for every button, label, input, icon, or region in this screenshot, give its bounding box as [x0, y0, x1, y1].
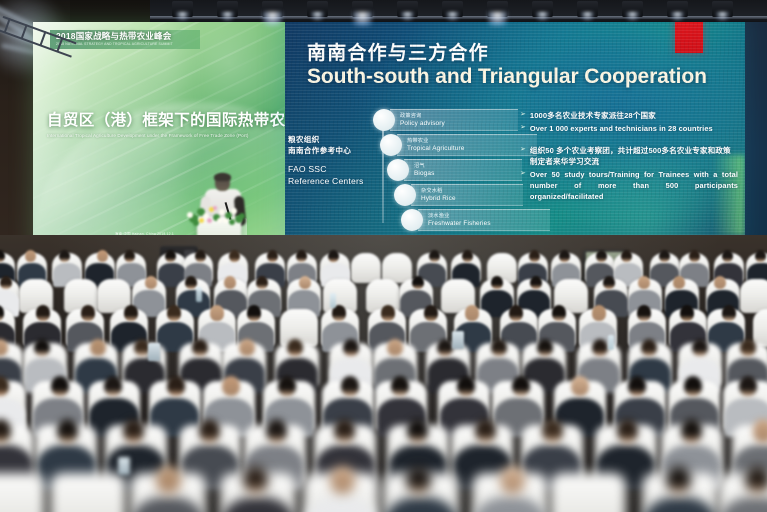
audience-person-head — [124, 250, 135, 262]
audience-person-head — [714, 276, 726, 289]
slide-title-cn: 南南合作与三方合作 — [307, 44, 707, 64]
bullet-text-cn: 组织50 多个农业考察团，共计超过500多名农业专家和政策制定者来华学习交流 — [530, 145, 738, 167]
audience-person-head — [391, 376, 409, 396]
fao-label-cn-2: 南南合作参考中心 — [288, 145, 383, 156]
audience-person-head — [552, 305, 566, 321]
audience-person-head — [256, 276, 268, 289]
audience-chair — [50, 473, 126, 512]
audience-person-head — [491, 339, 507, 357]
bullet-arrow-icon: ➢ — [520, 169, 526, 180]
audience-person-head — [296, 250, 307, 262]
audience-person-head — [287, 339, 303, 357]
audience-person-head — [755, 250, 766, 262]
bullet-arrow-icon: ➢ — [520, 110, 526, 121]
smartphone — [148, 343, 160, 361]
water-bottle — [330, 293, 336, 308]
audience-person-head — [592, 305, 606, 321]
audience-person-head — [673, 276, 685, 289]
reference-center-node: 杂交水稻Hybrid Rice — [394, 183, 523, 207]
audience-person-head — [637, 305, 651, 321]
audience-person-head — [167, 305, 181, 321]
fao-label-en-2: Reference Centers — [288, 175, 383, 187]
audience-person-head — [571, 376, 589, 396]
audience-person-head — [457, 376, 475, 396]
audience-person-head — [81, 305, 95, 321]
audience-person-head — [334, 419, 355, 443]
spotlight — [307, 1, 328, 17]
spotlight — [352, 1, 373, 17]
audience-person-head — [684, 376, 702, 396]
audience-person-head — [722, 250, 733, 262]
audience-person-head — [739, 376, 757, 396]
audience-person-head — [666, 466, 691, 494]
fao-label-en-1: FAO SSC — [288, 163, 383, 175]
bullet-text-en: Over 1 000 experts and technicians in 28… — [530, 123, 713, 134]
bullet-group: ➢组织50 多个农业考察团，共计超过500多名农业专家和政策制定者来华学习交流➢… — [520, 145, 738, 202]
spotlight — [622, 1, 643, 17]
audience-person-head — [529, 250, 540, 262]
audience-chair — [740, 279, 767, 313]
audience-person-head — [104, 376, 122, 396]
spotlight — [172, 1, 193, 17]
audience-person-head — [462, 250, 473, 262]
audience-person-head — [412, 276, 424, 289]
bullet-text-cn: 1000多名农业技术专家派往28个国家 — [530, 110, 656, 121]
audience-person-head — [51, 376, 69, 396]
audience-person-head — [123, 419, 144, 443]
audience-person-head — [689, 250, 700, 262]
audience-person-head — [195, 250, 206, 262]
audience-person-head — [745, 466, 767, 494]
node-label-en: Biogas — [414, 170, 518, 178]
node-label-en: Freshwater Fisheries — [428, 220, 546, 228]
bullet-arrow-icon: ➢ — [520, 145, 526, 156]
smartphone — [452, 331, 464, 349]
audience-person-head — [266, 419, 287, 443]
node-label-en: Hybrid Rice — [421, 195, 519, 203]
slide-title: 南南合作与三方合作 South-south and Triangular Coo… — [307, 44, 707, 88]
audience-person-head — [341, 376, 359, 396]
audience-person-head — [36, 305, 50, 321]
audience-person-head — [381, 305, 395, 321]
right-wall — [744, 0, 767, 250]
summit-banner-en: 2018 NATIONAL STRATEGY AND TROPICAL AGRI… — [56, 42, 200, 46]
spotlight — [262, 1, 283, 17]
spotlight — [577, 1, 598, 17]
presentation-slide-screen: 南南合作与三方合作 South-south and Triangular Coo… — [285, 12, 745, 250]
audience-chair — [753, 309, 767, 347]
audience-person-head — [692, 339, 708, 357]
audience-person-head — [267, 250, 278, 262]
audience-person-head — [343, 339, 359, 357]
audience-person-head — [243, 466, 268, 494]
audience-person-head — [330, 466, 355, 494]
spotlight — [442, 1, 463, 17]
audience-person-head — [210, 305, 224, 321]
audience-person-head — [424, 305, 438, 321]
audience-person-head — [247, 305, 261, 321]
audience-person-head — [192, 339, 208, 357]
summit-banner-cn: 2018国家战略与热带农业峰会 — [56, 32, 200, 41]
audience-person-head — [509, 305, 523, 321]
audience-person-head — [512, 376, 530, 396]
green-screen-title: 自贸区（港）框架下的国际热带农业发展 International Tropica… — [47, 108, 285, 138]
audience-person-head — [57, 419, 78, 443]
bullet-text-en: Over 50 study tours/Training for Trainee… — [530, 169, 738, 202]
audience-person-head — [542, 419, 563, 443]
bullet-row: ➢Over 50 study tours/Training for Traine… — [520, 169, 738, 202]
audience-person-head — [0, 276, 12, 289]
audience-person-head — [167, 376, 185, 396]
fao-ssc-label: 粮农组织 南南合作参考中心 FAO SSC Reference Centers — [288, 134, 383, 187]
audience-person-head — [406, 466, 431, 494]
audience-area — [0, 235, 767, 512]
audience-person-head — [437, 339, 453, 357]
audience-person-head — [740, 339, 756, 357]
spotlight — [217, 1, 238, 17]
audience-person-head — [596, 250, 607, 262]
water-bottle — [608, 335, 614, 350]
audience-person-head — [592, 339, 608, 357]
node-label-bar: 政策咨询Policy advisory — [390, 109, 518, 131]
audience-person-head — [491, 276, 503, 289]
water-bottle — [196, 287, 202, 302]
reference-center-node: 沼气Biogas — [387, 158, 522, 182]
audience-person-head — [603, 276, 615, 289]
slide-bullet-list: ➢1000多名农业技术专家派往28个国家➢Over 1 000 experts … — [520, 110, 738, 213]
audience-person-head — [239, 339, 255, 357]
speaker-hair — [214, 173, 231, 181]
audience-person-head — [25, 250, 36, 262]
audience-person-head — [229, 250, 240, 262]
audience-person-head — [145, 276, 157, 289]
node-circle-icon — [401, 209, 423, 231]
audience-person-head — [617, 419, 638, 443]
audience-person-head — [559, 250, 570, 262]
audience-person-head — [659, 250, 670, 262]
audience-person-head — [156, 466, 181, 494]
audience-person-head — [278, 376, 296, 396]
audience-chair — [550, 473, 626, 512]
node-label-bar: 沼气Biogas — [404, 159, 522, 181]
spotlight — [397, 1, 418, 17]
audience-person-head — [299, 276, 311, 289]
audience-person-head — [465, 305, 479, 321]
bullet-arrow-icon: ➢ — [520, 123, 526, 134]
audience-person-head — [530, 276, 542, 289]
smartphone — [118, 457, 130, 475]
audience-person-head — [59, 250, 70, 262]
reference-center-node-list: 政策咨询Policy advisory热带农业Tropical Agricult… — [373, 108, 533, 232]
audience-person-head — [475, 419, 496, 443]
audience-person-head — [34, 339, 50, 357]
node-label-en: Tropical Agriculture — [407, 145, 533, 153]
audience-person-head — [638, 276, 650, 289]
conference-photo: 2018国家战略与热带农业峰会 2018 NATIONAL STRATEGY A… — [0, 0, 767, 512]
reference-center-node: 热带农业Tropical Agriculture — [380, 133, 537, 157]
node-label-en: Policy advisory — [400, 120, 514, 128]
audience-person-head — [628, 376, 646, 396]
node-label-bar: 热带农业Tropical Agriculture — [397, 134, 537, 156]
spotlight — [712, 1, 733, 17]
audience-person-head — [680, 305, 694, 321]
bullet-row: ➢1000多名农业技术专家派往28个国家 — [520, 110, 738, 121]
fao-label-cn-1: 粮农组织 — [288, 134, 383, 145]
audience-person-head — [97, 250, 108, 262]
green-title-en: International Tropical Agriculture Devel… — [47, 133, 285, 138]
audience-person-head — [753, 419, 767, 443]
audience-person-head — [124, 305, 138, 321]
reference-center-node: 政策咨询Policy advisory — [373, 108, 518, 132]
audience-person-head — [681, 419, 702, 443]
bullet-group: ➢1000多名农业技术专家派往28个国家➢Over 1 000 experts … — [520, 110, 738, 134]
slide-title-en: South-south and Triangular Cooperation — [307, 65, 707, 88]
node-label-bar: 杂交水稻Hybrid Rice — [411, 184, 523, 206]
node-circle-icon — [394, 184, 416, 206]
flower-arrangement — [187, 204, 245, 228]
node-circle-icon — [387, 159, 409, 181]
bullet-row: ➢组织50 多个农业考察团，共计超过500多名农业专家和政策制定者来华学习交流 — [520, 145, 738, 167]
bullet-row: ➢Over 1 000 experts and technicians in 2… — [520, 123, 738, 134]
audience-person-head — [500, 466, 525, 494]
green-title-cn: 自贸区（港）框架下的国际热带农业发展 — [47, 108, 285, 130]
node-circle-icon — [380, 134, 402, 156]
audience-person-head — [621, 250, 632, 262]
audience-person-head — [222, 376, 240, 396]
spotlight — [667, 1, 688, 17]
node-circle-icon — [373, 109, 395, 131]
audience-person-head — [722, 305, 736, 321]
audience-person-head — [199, 419, 220, 443]
audience-chair — [0, 473, 45, 512]
spotlight — [487, 1, 508, 17]
audience-person-head — [407, 419, 428, 443]
node-connector-line — [382, 119, 384, 223]
spotlight — [532, 1, 553, 17]
